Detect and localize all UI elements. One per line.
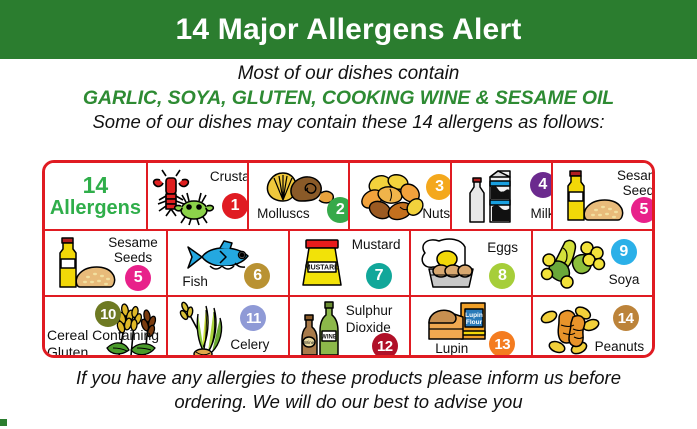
svg-text:Lupin: Lupin [465,312,483,319]
allergen-cell-celery[interactable]: Celery 11 [166,297,287,358]
allergen-label: Crustaceans [210,169,247,184]
allergen-count-label: Allergens [50,197,141,219]
allergen-cell-eggs[interactable]: Eggs 8 [409,231,530,295]
allergen-count: 14 [83,173,109,197]
eggs-carton-icon [417,235,485,291]
allergen-label: Lupin [435,341,468,356]
allergen-badge: 1 [222,193,247,219]
allergen-label: Sesame Seeds [101,235,165,265]
allergen-label: Cereal Containing Gluten [47,327,165,358]
celery-icon [176,300,236,358]
allergen-label: Sulphur Dioxide [346,302,409,336]
allergen-badge: 8 [489,263,515,289]
allergen-cell-soya[interactable]: Soya 9 [531,231,652,295]
allergen-grid: 14 Allergens [42,160,655,358]
svg-text:MUSTARD: MUSTARD [305,265,339,272]
footer-line-2: ordering. We will do our best to advise … [0,390,697,414]
allergen-cell-peanuts[interactable]: Peanuts 14 [531,297,652,358]
allergen-cell-sesame-seeds-slot[interactable]: Sesame Seeds 5 [45,231,166,295]
allergen-cell-mustard[interactable]: MUSTARD Mustard 7 [288,231,409,295]
allergen-label: Sesame Seeds [611,168,652,198]
allergen-badge: 10 [95,301,121,327]
allergen-label: Mustard [352,237,401,252]
soya-beans-icon [539,236,605,290]
allergen-badge: 5 [125,265,151,291]
intro-line-1: Most of our dishes contain [0,62,697,86]
allergen-poster: 14 Major Allergens Alert Most of our dis… [0,0,697,429]
svg-text:Flour: Flour [466,319,483,326]
allergen-cell-fish[interactable]: Fish 6 [166,231,287,295]
allergen-label: Fish [182,274,208,289]
mustard-jar-icon: MUSTARD [298,237,350,289]
allergen-badge: 12 [372,333,398,358]
allergen-row: Sesame Seeds 5 [45,229,652,295]
footer-line-1: If you have any allergies to these produ… [0,366,697,390]
allergen-badge: 4 [530,172,551,198]
allergen-label: Soya [609,272,640,287]
allergen-row: Cereal Containing Gluten 10 [45,295,652,358]
allergen-label: Peanuts [595,339,645,354]
shell-snail-icon [261,167,337,207]
allergen-label: Milk [531,206,551,221]
allergen-label: Celery [230,337,269,352]
allergen-badge: 14 [613,305,639,331]
wine-bottles-icon: WINE Wine [298,301,350,358]
allergen-label: Molluscs [257,206,310,221]
allergen-badge: 11 [240,305,266,331]
lupin-flour-bread-icon: Lupin Flour [423,301,495,343]
allergen-cell-sesame-seeds[interactable]: Sesame Seeds 5 [551,163,652,229]
allergen-badge: 9 [611,239,637,265]
allergen-row: 14 Allergens [45,163,652,229]
lobster-crab-icon [152,168,214,226]
page-title: 14 Major Allergens Alert [175,15,521,45]
allergen-cell-cereal-gluten[interactable]: Cereal Containing Gluten 10 [45,297,166,358]
allergen-badge: 2 [327,197,348,223]
footer-text-block: If you have any allergies to these produ… [0,366,697,414]
allergen-label: Eggs [487,240,518,255]
svg-text:Wine: Wine [304,340,315,345]
header-banner: 14 Major Allergens Alert [0,0,697,59]
allergen-cell-lupin[interactable]: Lupin Flour Lupin 13 [409,297,530,358]
allergen-cell-crustaceans[interactable]: Crustaceans 1 [146,163,247,229]
intro-line-3: Some of our dishes may contain these 14 … [0,110,697,134]
allergen-cell-molluscs[interactable]: Molluscs 2 [247,163,348,229]
grid-title-cell: 14 Allergens [45,163,146,229]
allergen-badge: 3 [426,174,449,200]
allergen-label: Nuts [422,206,449,221]
allergen-cell-sulphur-dioxide[interactable]: WINE Wine Sulphur Dioxide 12 [288,297,409,358]
svg-text:WINE: WINE [321,335,337,341]
intro-line-2-allergens: GARLIC, SOYA, GLUTEN, COOKING WINE & SES… [0,86,697,110]
intro-text-block: Most of our dishes contain GARLIC, SOYA,… [0,62,697,134]
allergen-badge: 7 [366,263,392,289]
milk-bottle-carton-icon: Milk [464,167,524,225]
svg-text:Milk: Milk [491,190,509,200]
allergen-cell-nuts[interactable]: Nuts 3 [348,163,449,229]
allergen-cell-milk[interactable]: Milk Milk 4 [450,163,551,229]
allergen-badge: 6 [244,263,270,289]
allergen-badge: 13 [489,331,515,357]
allergen-badge: 5 [631,197,652,223]
corner-artifact [0,419,7,426]
mixed-nuts-icon [360,171,428,221]
